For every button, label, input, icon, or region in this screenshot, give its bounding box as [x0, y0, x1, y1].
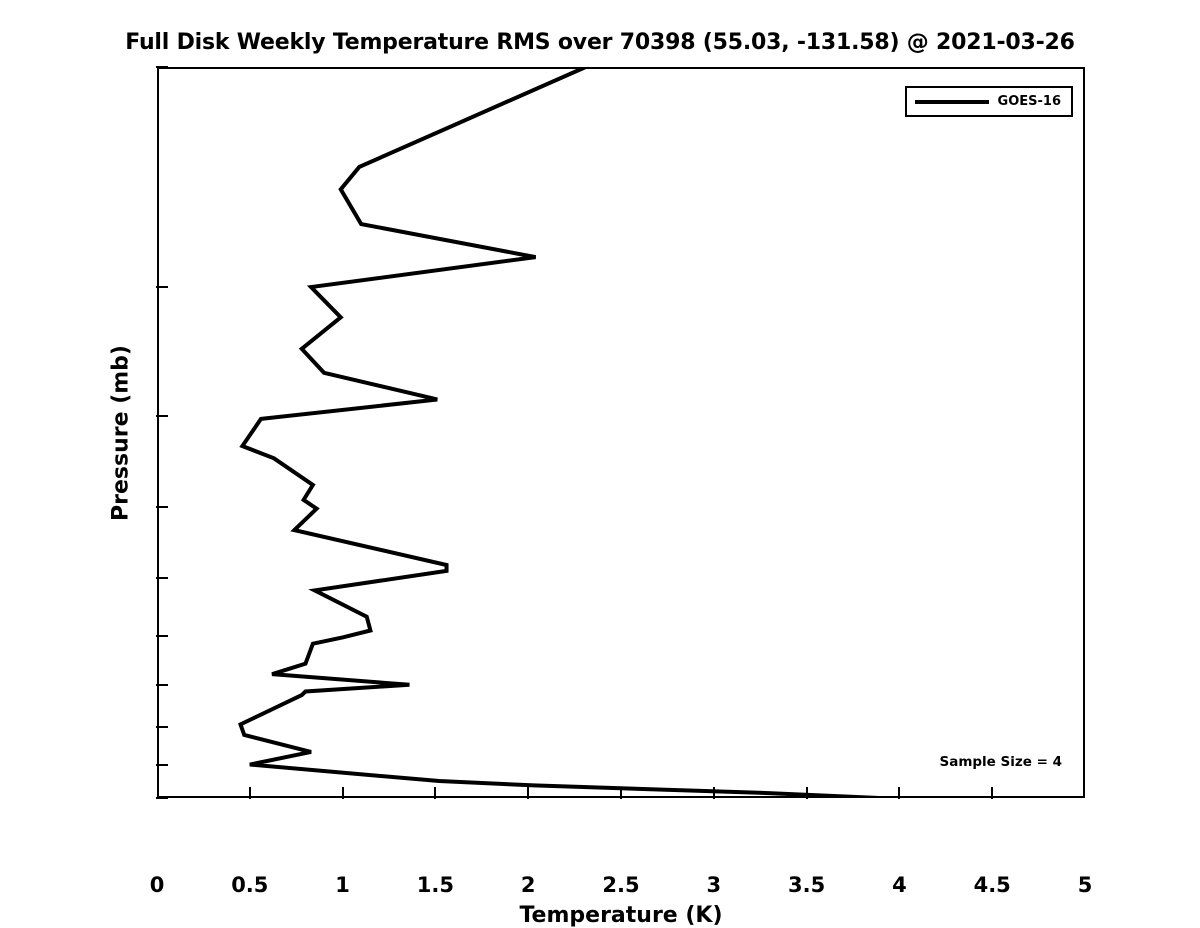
y-tick-mark-100 — [156, 66, 168, 68]
series-line-goes16 — [241, 67, 879, 798]
x-tick-mark-3 — [713, 787, 715, 799]
x-tick-label-2: 2 — [521, 873, 536, 897]
legend-line-swatch-icon — [915, 100, 989, 104]
x-tick-mark-0-5 — [249, 787, 251, 799]
data-series-goes16 — [157, 67, 1085, 798]
x-tick-label-4-5: 4.5 — [974, 873, 1011, 897]
y-tick-mark-900 — [156, 764, 168, 766]
plot-area: Pressure (mb) Temperature (K) 1002003004… — [157, 67, 1085, 798]
x-tick-label-1-5: 1.5 — [417, 873, 454, 897]
x-tick-mark-1-5 — [434, 787, 436, 799]
x-tick-label-3-5: 3.5 — [788, 873, 825, 897]
page-title: Full Disk Weekly Temperature RMS over 70… — [0, 30, 1200, 55]
legend-label-goes16: GOES-16 — [998, 94, 1061, 109]
x-tick-label-4: 4 — [892, 873, 907, 897]
y-tick-mark-500 — [156, 577, 168, 579]
x-tick-label-0-5: 0.5 — [231, 873, 268, 897]
x-tick-label-0: 0 — [150, 873, 165, 897]
x-tick-label-2-5: 2.5 — [602, 873, 639, 897]
y-tick-mark-300 — [156, 415, 168, 417]
y-tick-mark-400 — [156, 506, 168, 508]
y-tick-mark-200 — [156, 286, 168, 288]
x-tick-label-1: 1 — [335, 873, 350, 897]
chart-page: Full Disk Weekly Temperature RMS over 70… — [0, 0, 1200, 900]
x-tick-mark-2 — [527, 787, 529, 799]
x-tick-mark-1 — [342, 787, 344, 799]
x-tick-mark-3-5 — [806, 787, 808, 799]
y-tick-mark-800 — [156, 726, 168, 728]
sample-size-annotation: Sample Size = 4 — [939, 754, 1062, 770]
x-tick-mark-4-5 — [991, 787, 993, 799]
legend[interactable]: GOES-16 — [905, 86, 1073, 117]
y-tick-mark-1000 — [156, 797, 168, 799]
x-tick-mark-4 — [898, 787, 900, 799]
x-tick-label-3: 3 — [706, 873, 721, 897]
x-axis-title: Temperature (K) — [157, 903, 1085, 928]
y-axis-title: Pressure (mb) — [109, 345, 134, 521]
x-tick-label-5: 5 — [1078, 873, 1093, 897]
x-tick-mark-2-5 — [620, 787, 622, 799]
y-tick-mark-600 — [156, 635, 168, 637]
y-tick-mark-700 — [156, 684, 168, 686]
